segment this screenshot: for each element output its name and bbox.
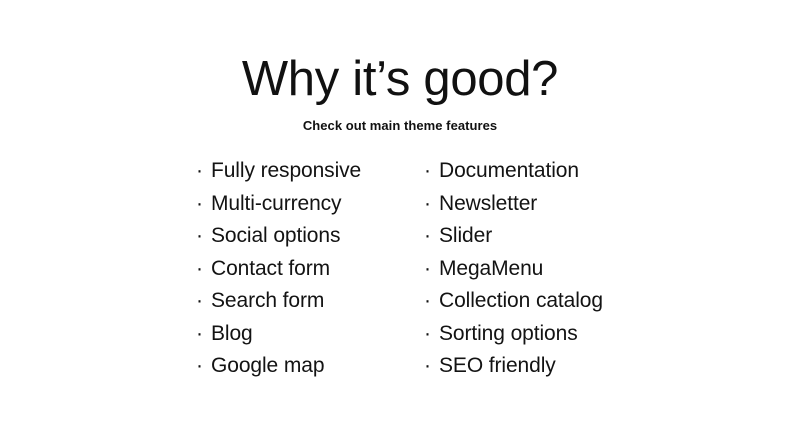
list-item: · Fully responsive [196,155,424,188]
bullet-icon: · [196,220,211,253]
feature-list-right: · Documentation · Newsletter · Slider · … [424,155,664,383]
list-item: · SEO friendly [424,350,664,383]
bullet-icon: · [196,285,211,318]
list-item: · Documentation [424,155,664,188]
feature-label: Sorting options [439,318,578,351]
list-item: · Multi-currency [196,188,424,221]
bullet-icon: · [196,350,211,383]
feature-label: Multi-currency [211,188,341,221]
feature-label: Blog [211,318,253,351]
list-item: · Contact form [196,253,424,286]
bullet-icon: · [424,285,439,318]
list-item: · Sorting options [424,318,664,351]
feature-label: Fully responsive [211,155,361,188]
feature-label: Newsletter [439,188,537,221]
list-item: · Newsletter [424,188,664,221]
list-item: · Google map [196,350,424,383]
bullet-icon: · [196,188,211,221]
page-title: Why it’s good? [0,52,800,106]
heading-block: Why it’s good? Check out main theme feat… [0,52,800,134]
list-item: · Social options [196,220,424,253]
list-item: · Search form [196,285,424,318]
feature-label: Slider [439,220,492,253]
list-item: · Slider [424,220,664,253]
page-subtitle: Check out main theme features [0,106,800,134]
feature-label: Documentation [439,155,579,188]
bullet-icon: · [424,155,439,188]
bullet-icon: · [424,220,439,253]
list-item: · Blog [196,318,424,351]
feature-label: SEO friendly [439,350,556,383]
feature-label: Collection catalog [439,285,603,318]
bullet-icon: · [196,253,211,286]
bullet-icon: · [196,318,211,351]
bullet-icon: · [424,318,439,351]
feature-label: MegaMenu [439,253,543,286]
feature-list-left: · Fully responsive · Multi-currency · So… [196,155,424,383]
bullet-icon: · [424,253,439,286]
list-item: · MegaMenu [424,253,664,286]
features-section: · Fully responsive · Multi-currency · So… [0,155,800,383]
bullet-icon: · [424,188,439,221]
feature-label: Social options [211,220,340,253]
bullet-icon: · [424,350,439,383]
feature-label: Google map [211,350,324,383]
feature-label: Search form [211,285,324,318]
feature-label: Contact form [211,253,330,286]
slide-canvas: Why it’s good? Check out main theme feat… [0,0,800,446]
bullet-icon: · [196,155,211,188]
list-item: · Collection catalog [424,285,664,318]
